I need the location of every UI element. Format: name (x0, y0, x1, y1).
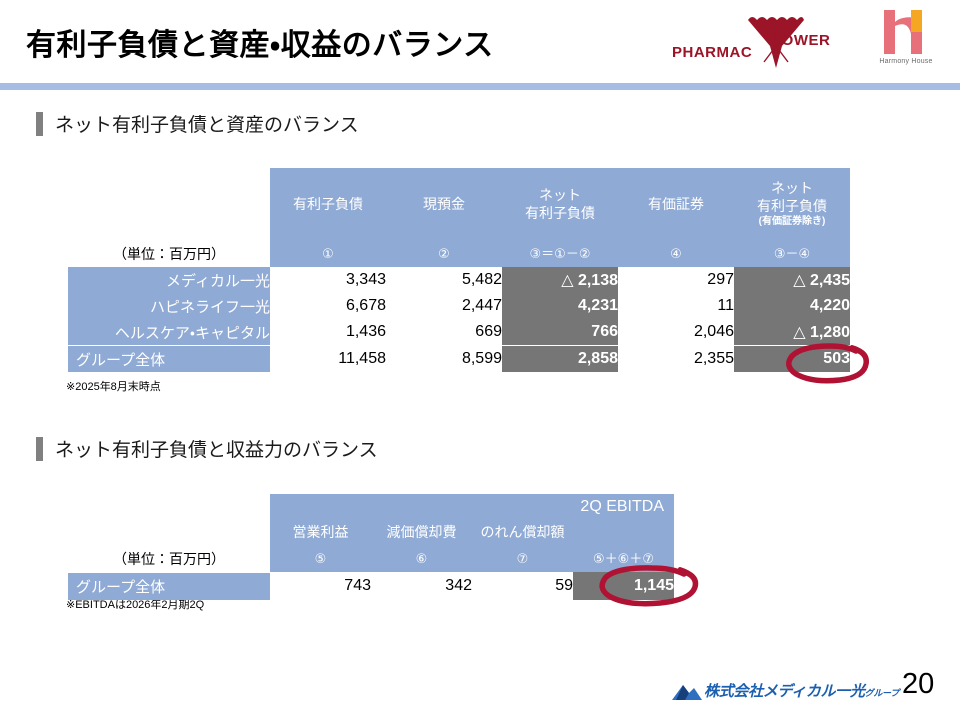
table2-header-corner (68, 520, 270, 546)
table1-row-label-2: ハピネライフ一光 (68, 293, 270, 319)
table2-col-header-3: のれん償却額 (472, 520, 573, 546)
table1-formula-3: ③＝①－② (502, 241, 618, 267)
table2-formula-2: ⑥ (371, 546, 472, 572)
table2-header-row: 営業利益 減価償却費 のれん償却額 (68, 520, 674, 546)
section-accent-bar-2 (36, 437, 43, 461)
table2-col-header-2: 減価償却費 (371, 520, 472, 546)
table-row: ハピネライフ一光 6,678 2,447 4,231 11 4,220 (68, 293, 850, 319)
table1-col-header-5-line2: 有利子負債 (757, 198, 827, 214)
table1-cell-r3c4: 2,046 (618, 319, 734, 346)
table1-formula-4: ④ (618, 241, 734, 267)
table1-cell-r3c1: 1,436 (270, 319, 386, 346)
table1-cell-r2c5: 4,220 (734, 293, 850, 319)
net-debt-asset-balance-table: 有利子負債 現預金 ネット 有利子負債 有価証券 ネット 有利子負債 (有価証券… (68, 168, 850, 372)
table1-cell-r3c5: △ 1,280 (734, 319, 850, 346)
table1-col-header-5: ネット 有利子負債 (有価証券除き) (734, 168, 850, 241)
table2-formula-3: ⑦ (472, 546, 573, 572)
table1-cell-r4c4: 2,355 (618, 346, 734, 373)
table2-formula-row: ⑤ ⑥ ⑦ ⑤＋⑥＋⑦ (68, 546, 674, 572)
table1-cell-r1c4: 297 (618, 267, 734, 293)
table2-row-label-1: グループ全体 (68, 572, 270, 600)
pharmacy-logo-text-right: LOWER (772, 32, 830, 49)
table2-group-header: 2Q EBITDA (270, 494, 674, 520)
table2-formula-corner (68, 546, 270, 572)
section-heading-label-2: ネット有利子負債と収益力のバランス (55, 435, 378, 462)
table1-cell-r3c2: 669 (386, 319, 502, 346)
table1-cell-r4c5: 503 (734, 346, 850, 373)
table1-cell-r3c3: 766 (502, 319, 618, 346)
table1-formula-corner (68, 241, 270, 267)
table1-col-header-3: ネット 有利子負債 (502, 168, 618, 241)
table2-cell-r1c2: 342 (371, 572, 472, 600)
table2-cell-r1c1: 743 (270, 572, 371, 600)
table1-col-header-1: 有利子負債 (270, 168, 386, 241)
table1-cell-r2c1: 6,678 (270, 293, 386, 319)
table2-group-header-row: 2Q EBITDA (68, 494, 674, 520)
table1-cell-r4c1: 11,458 (270, 346, 386, 373)
table1-cell-r2c3: 4,231 (502, 293, 618, 319)
table1-cell-r1c5: △ 2,435 (734, 267, 850, 293)
pharmacy-flower-logo: PHARMAC LOWER (672, 10, 847, 72)
footer-logo-text: 株式会社メディカル一光グループ (704, 680, 899, 701)
harmony-house-caption: Harmony House (870, 58, 942, 65)
table1-cell-r2c2: 2,447 (386, 293, 502, 319)
table2-formula-1: ⑤ (270, 546, 371, 572)
table1-col-header-5-sub: (有価証券除き) (734, 216, 850, 229)
table2-col-header-1: 営業利益 (270, 520, 371, 546)
section-heading-label: ネット有利子負債と資産のバランス (55, 110, 359, 137)
harmony-h-icon (870, 8, 942, 58)
table2-group-corner (68, 494, 270, 520)
table1-row-label-4: グループ全体 (68, 346, 270, 373)
section-accent-bar (36, 112, 43, 136)
mountain-mark-icon (672, 683, 702, 701)
foot-note-table1: ※2025年8月末時点 (66, 378, 161, 394)
table1-cell-r1c2: 5,482 (386, 267, 502, 293)
harmony-house-logo: Harmony House (870, 8, 942, 74)
table2-formula-4: ⑤＋⑥＋⑦ (573, 546, 674, 572)
table1-formula-1: ① (270, 241, 386, 267)
table1-row-label-1: メディカル一光 (68, 267, 270, 293)
pharmacy-logo-text-left: PHARMAC (672, 44, 752, 61)
page-title: 有利子負債と資産・収益のバランス (26, 20, 494, 64)
table1-header-corner (68, 168, 270, 241)
section-heading-net-debt-earnings: ネット有利子負債と収益力のバランス (36, 435, 378, 462)
table1-col-header-3-line1: ネット (539, 187, 581, 203)
table1-cell-r4c3: 2,858 (502, 346, 618, 373)
footer-logo-company: 株式会社メディカル一光 (704, 683, 865, 700)
table1-col-header-3-line2: 有利子負債 (525, 205, 595, 221)
table2-cell-r1c3: 59 (472, 572, 573, 600)
table-row-total: グループ全体 11,458 8,599 2,858 2,355 503 (68, 346, 850, 373)
table2-col-header-4 (573, 520, 674, 546)
table1-header-row: 有利子負債 現預金 ネット 有利子負債 有価証券 ネット 有利子負債 (有価証券… (68, 168, 850, 241)
medical-ichiko-group-logo: 株式会社メディカル一光グループ (672, 676, 892, 706)
table1-cell-r2c4: 11 (618, 293, 734, 319)
footer-logo-suffix: グループ (865, 688, 899, 698)
header-divider (0, 83, 960, 90)
net-debt-earnings-balance-table: 2Q EBITDA 営業利益 減価償却費 のれん償却額 ⑤ ⑥ ⑦ ⑤＋⑥＋⑦ … (68, 494, 674, 600)
table1-cell-r1c3: △ 2,138 (502, 267, 618, 293)
table1-col-header-2: 現預金 (386, 168, 502, 241)
table1-col-header-4: 有価証券 (618, 168, 734, 241)
table2-cell-r1c4: 1,145 (573, 572, 674, 600)
table1-formula-2: ② (386, 241, 502, 267)
table1-cell-r4c2: 8,599 (386, 346, 502, 373)
table-row: ヘルスケア・キャピタル 1,436 669 766 2,046 △ 1,280 (68, 319, 850, 346)
table-row: メディカル一光 3,343 5,482 △ 2,138 297 △ 2,435 (68, 267, 850, 293)
table1-col-header-5-line1: ネット (771, 180, 813, 196)
table-row-total: グループ全体 743 342 59 1,145 (68, 572, 674, 600)
table1-cell-r1c1: 3,343 (270, 267, 386, 293)
table1-formula-row: ① ② ③＝①－② ④ ③－④ (68, 241, 850, 267)
section-heading-net-debt-assets: ネット有利子負債と資産のバランス (36, 110, 359, 137)
table1-formula-5: ③－④ (734, 241, 850, 267)
table1-row-label-3: ヘルスケア・キャピタル (68, 319, 270, 346)
page-number: 20 (902, 668, 934, 701)
